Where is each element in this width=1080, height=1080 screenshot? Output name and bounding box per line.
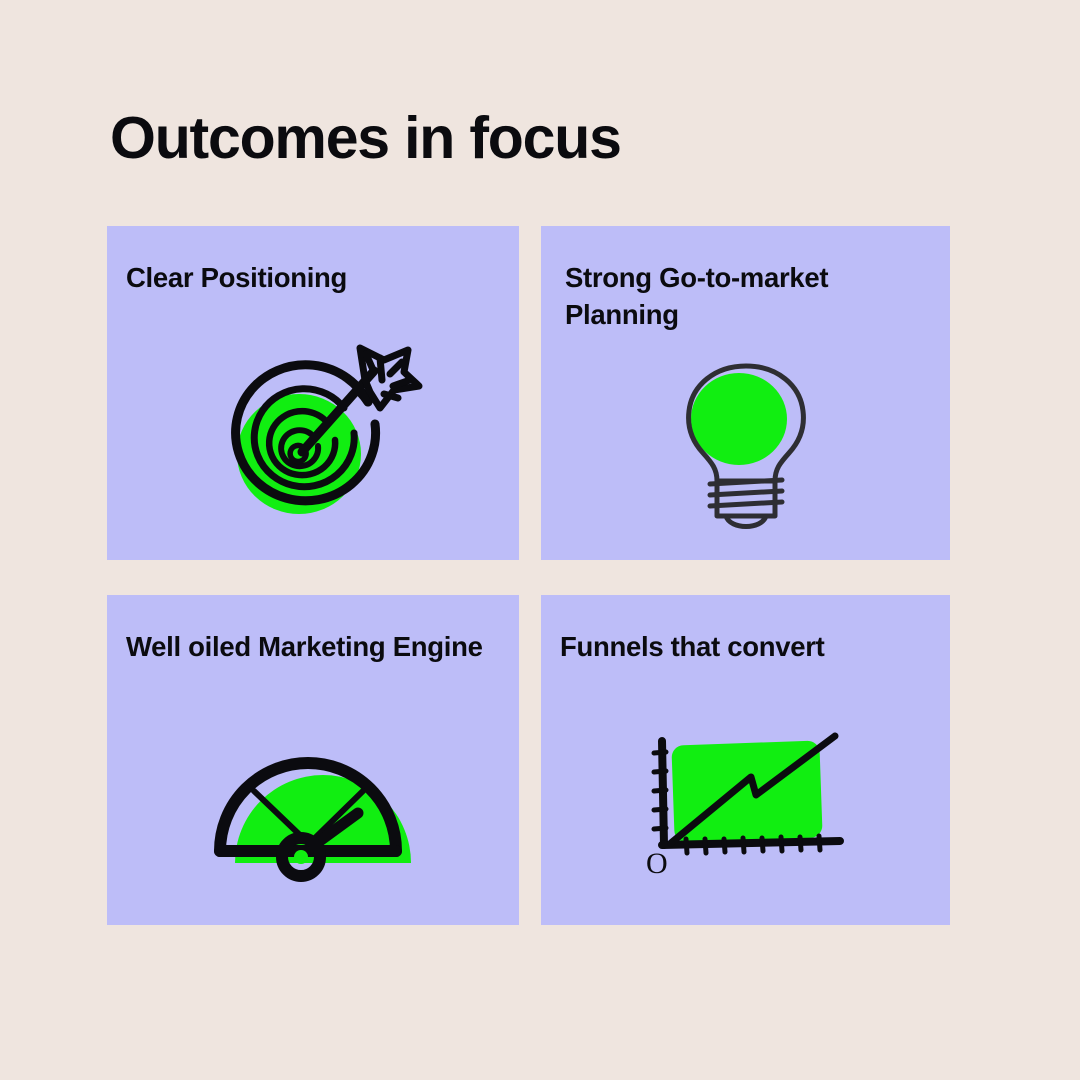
chart-origin-label: O (646, 847, 668, 880)
card-label: Funnels that convert (541, 629, 950, 666)
card-label: Clear Positioning (107, 260, 519, 297)
card-funnels-convert[interactable]: Funnels that convert (541, 595, 950, 925)
card-marketing-engine[interactable]: Well oiled Marketing Engine (107, 595, 519, 925)
card-go-to-market-planning[interactable]: Strong Go-to-market Planning (541, 226, 950, 560)
card-label: Well oiled Marketing Engine (107, 629, 519, 666)
card-label: Strong Go-to-market Planning (541, 260, 950, 333)
page-title: Outcomes in focus (110, 108, 621, 170)
lightbulb-icon (656, 353, 836, 543)
growth-line-chart-icon: O (633, 723, 858, 888)
target-bullseye-arrow-icon (198, 328, 428, 538)
speedometer-gauge-icon (206, 745, 421, 885)
outcomes-card-grid: Clear Positioning (107, 226, 950, 925)
card-clear-positioning[interactable]: Clear Positioning (107, 226, 519, 560)
